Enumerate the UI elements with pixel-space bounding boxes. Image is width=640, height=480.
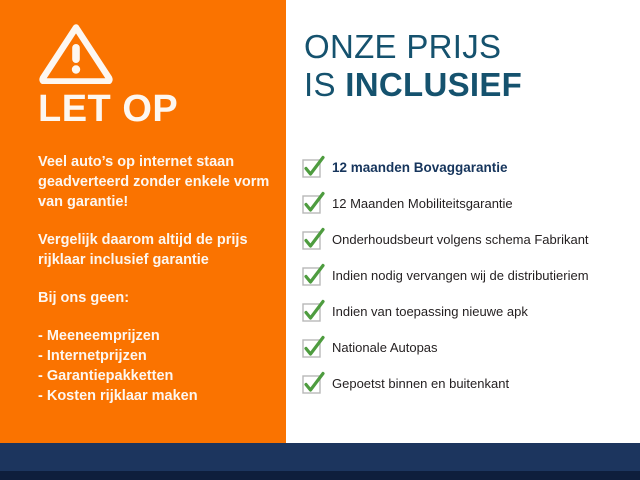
list-item: - Meeneemprijzen [38, 326, 276, 346]
exclusion-list: - Meeneemprijzen - Internetprijzen - Gar… [38, 326, 276, 406]
list-item: 12 Maanden Mobiliteitsgarantie [302, 186, 638, 222]
warning-triangle-icon [38, 22, 114, 84]
list-item: Indien van toepassing nieuwe apk [302, 294, 638, 330]
checkbox-checked-icon [302, 373, 324, 395]
list-item: 12 maanden Bovaggarantie [302, 150, 638, 186]
warning-panel: LET OP Veel auto’s op internet staan gea… [0, 0, 286, 443]
footer-bar [0, 443, 640, 471]
headline-line-1: ONZE PRIJS [304, 28, 522, 66]
list-item-label: Indien van toepassing nieuwe apk [332, 304, 528, 320]
checkbox-checked-icon [302, 157, 324, 179]
list-item-label: Onderhoudsbeurt volgens schema Fabrikant [332, 232, 589, 248]
warning-paragraph-1: Veel auto’s op internet staan geadvertee… [38, 152, 276, 212]
checkbox-checked-icon [302, 193, 324, 215]
checkbox-checked-icon [302, 301, 324, 323]
warning-paragraph-2: Vergelijk daarom altijd de prijs rijklaa… [38, 230, 276, 270]
list-item: Nationale Autopas [302, 330, 638, 366]
list-item-label: Indien nodig vervangen wij de distributi… [332, 268, 589, 284]
headline-line-2: IS INCLUSIEF [304, 66, 522, 104]
list-item: - Kosten rijklaar maken [38, 386, 276, 406]
list-item: - Internetprijzen [38, 346, 276, 366]
footer-bar-shadow [0, 471, 640, 480]
list-item-label: Gepoetst binnen en buitenkant [332, 376, 509, 392]
list-item-label: 12 Maanden Mobiliteitsgarantie [332, 196, 513, 212]
checkbox-checked-icon [302, 229, 324, 251]
list-item-label: 12 maanden Bovaggarantie [332, 160, 508, 176]
warning-body: Veel auto’s op internet staan geadvertee… [38, 152, 276, 406]
list-item: Indien nodig vervangen wij de distributi… [302, 258, 638, 294]
warning-paragraph-3: Bij ons geen: [38, 288, 276, 308]
inclusive-panel: ONZE PRIJS IS INCLUSIEF 12 maanden Bovag… [286, 0, 640, 443]
list-item: Onderhoudsbeurt volgens schema Fabrikant [302, 222, 638, 258]
page-title: LET OP [38, 90, 178, 128]
list-item-label: Nationale Autopas [332, 340, 438, 356]
list-item: Gepoetst binnen en buitenkant [302, 366, 638, 402]
inclusions-list: 12 maanden Bovaggarantie 12 Maanden Mobi… [302, 150, 638, 402]
headline-emphasis: INCLUSIEF [345, 66, 522, 103]
checkbox-checked-icon [302, 337, 324, 359]
inclusive-headline: ONZE PRIJS IS INCLUSIEF [304, 28, 522, 104]
list-item: - Garantiepakketten [38, 366, 276, 386]
checkbox-checked-icon [302, 265, 324, 287]
promo-banner: LET OP Veel auto’s op internet staan gea… [0, 0, 640, 480]
headline-prefix: IS [304, 66, 345, 103]
